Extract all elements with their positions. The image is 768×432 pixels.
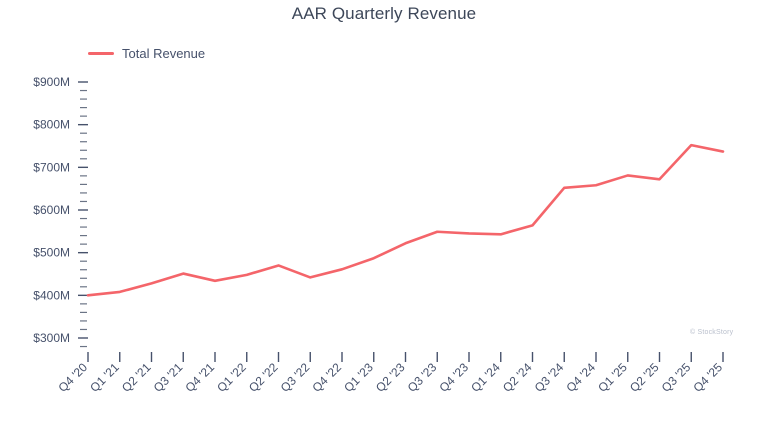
y-axis-tick-label: $600M bbox=[33, 203, 70, 217]
series-line-total-revenue bbox=[88, 145, 723, 295]
x-axis-tick-label: Q1 '24 bbox=[468, 360, 503, 395]
x-axis-tick-label: Q4 '21 bbox=[182, 360, 217, 395]
y-axis-tick-label: $800M bbox=[33, 118, 70, 132]
x-axis-tick-label: Q2 '24 bbox=[500, 360, 535, 395]
x-axis-tick-label: Q3 '25 bbox=[659, 360, 694, 395]
x-axis-tick-label: Q1 '23 bbox=[341, 360, 376, 395]
chart-card: AAR Quarterly Revenue Total Revenue $300… bbox=[0, 0, 768, 432]
y-axis-tick-label: $900M bbox=[33, 75, 70, 89]
x-axis-tick-label: Q4 '25 bbox=[690, 360, 725, 395]
x-axis-tick-label: Q1 '22 bbox=[214, 360, 249, 395]
x-axis-tick-label: Q2 '25 bbox=[627, 360, 662, 395]
x-axis-tick-label: Q2 '23 bbox=[373, 360, 408, 395]
y-axis-tick-label: $500M bbox=[33, 246, 70, 260]
x-axis-tick-label: Q3 '22 bbox=[278, 360, 313, 395]
x-axis-tick-label: Q3 '24 bbox=[532, 360, 567, 395]
x-axis-tick-label: Q4 '24 bbox=[563, 360, 598, 395]
x-axis-tick-label: Q4 '20 bbox=[55, 360, 90, 395]
x-axis-tick-label: Q4 '22 bbox=[309, 360, 344, 395]
watermark-stockstory: © StockStory bbox=[690, 329, 733, 336]
x-axis-tick-label: Q2 '22 bbox=[246, 360, 281, 395]
line-chart-plot: $300M$400M$500M$600M$700M$800M$900MQ4 '2… bbox=[0, 0, 768, 432]
x-axis-tick-label: Q2 '21 bbox=[119, 360, 154, 395]
x-axis-tick-label: Q3 '21 bbox=[151, 360, 186, 395]
y-axis-tick-label: $300M bbox=[33, 331, 70, 345]
x-axis-tick-label: Q4 '23 bbox=[436, 360, 471, 395]
x-axis-tick-label: Q1 '25 bbox=[595, 360, 630, 395]
y-axis-tick-label: $400M bbox=[33, 288, 70, 302]
x-axis-tick-label: Q3 '23 bbox=[405, 360, 440, 395]
x-axis-tick-label: Q1 '21 bbox=[87, 360, 122, 395]
y-axis-tick-label: $700M bbox=[33, 160, 70, 174]
